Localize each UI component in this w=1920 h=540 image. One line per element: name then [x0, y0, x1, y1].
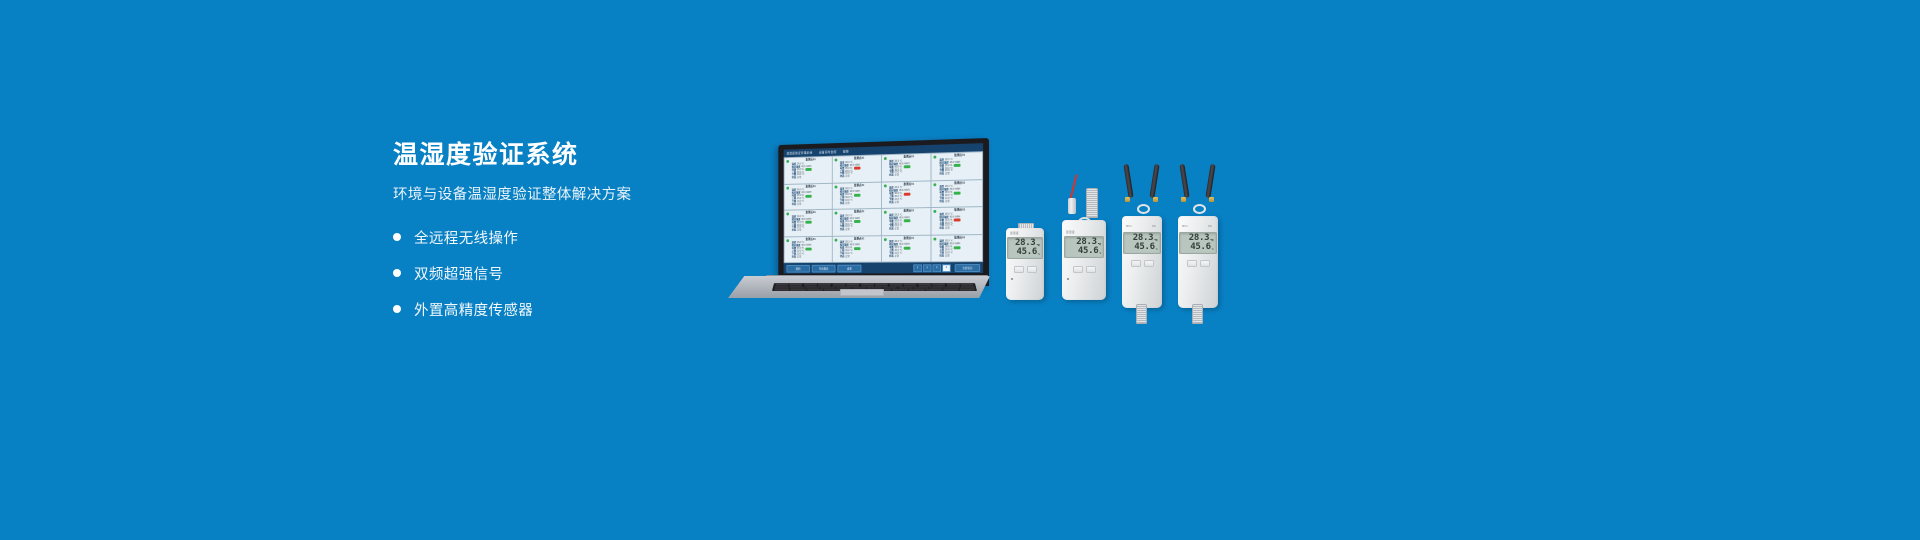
card-ok-badge: [854, 194, 861, 197]
lcd-humidity-unit: %: [1156, 248, 1158, 251]
monitoring-card[interactable]: 监测点01温度28.3 ℃相对湿度45.6 %RH电量95.0 %上限30.0 …: [882, 235, 931, 261]
monitoring-card[interactable]: 监测点01温度28.3 ℃相对湿度45.6 %RH电量95.0 %上限30.0 …: [833, 182, 881, 209]
device-button-left[interactable]: [1187, 260, 1197, 267]
lcd-humidity-value: 45.6: [1190, 243, 1210, 252]
card-row-value: 正常: [945, 228, 950, 230]
device-body: 温湿度 28.3 ℃ 45.6 %: [1062, 220, 1106, 300]
card-row-value: 正常: [797, 230, 801, 232]
hanging-hole: [1193, 204, 1206, 214]
card-row-key: 状态: [889, 202, 894, 204]
card-row-value: 正常: [895, 175, 900, 177]
device-brand-label: 温湿度: [1066, 230, 1075, 234]
card-row-value: 正常: [945, 173, 950, 176]
device-keypad[interactable]: [1014, 266, 1037, 273]
card-row-value: 正常: [895, 255, 900, 257]
antenna-label-nb: NB: [1208, 225, 1212, 228]
card-data-row: 状态正常: [792, 176, 830, 179]
card-row-key: 状态: [840, 229, 844, 231]
lcd-temperature-unit: ℃: [1098, 243, 1101, 246]
lcd-humidity-line: 45.6 %: [1134, 243, 1157, 252]
page-button-4[interactable]: 4: [942, 264, 951, 272]
card-ok-badge: [854, 220, 861, 223]
card-data-row: 状态正常: [792, 203, 830, 206]
monitoring-card[interactable]: 监测点01温度28.3 ℃相对湿度45.6 %RH电量95.0 %上限30.0 …: [882, 181, 931, 208]
card-status-dot-icon: [883, 238, 886, 241]
card-status-dot-icon: [934, 210, 937, 213]
laptop-lid: 温湿度验证管理系统 设备实时监控 报警 监测点01温度28.3 ℃相对湿度45.…: [778, 138, 989, 286]
card-status-dot-icon: [834, 185, 837, 188]
device-button-left[interactable]: [1073, 266, 1083, 273]
feature-item-1: 全远程无线操作: [393, 227, 723, 248]
card-ok-badge: [954, 246, 961, 249]
monitoring-card[interactable]: 监测点01温度28.3 ℃相对湿度45.6 %RH电量95.0 %上限30.0 …: [882, 208, 931, 235]
antenna-right-icon: [1205, 164, 1215, 198]
monitoring-card[interactable]: 监测点01温度28.3 ℃相对湿度45.6 %RH电量95.0 %上限30.0 …: [833, 155, 881, 182]
page-button-3[interactable]: 3: [932, 264, 941, 272]
card-row-value: 正常: [845, 176, 849, 178]
antenna-left-icon: [1179, 164, 1189, 198]
antenna-label-nb: NB: [1152, 225, 1156, 228]
antenna-right-connector: [1209, 197, 1214, 202]
card-status-dot-icon: [834, 238, 837, 241]
device-body: WiFi NB 28.3 ℃ 45.6 %: [1178, 216, 1218, 308]
status-led-icon: [1011, 278, 1013, 280]
card-row-key: 状态: [939, 173, 944, 175]
feature-label: 双频超强信号: [414, 263, 503, 284]
card-row-value: 正常: [945, 255, 950, 257]
device-wireless-sensor-2: WiFi NB 28.3 ℃ 45.6 %: [1178, 216, 1218, 308]
card-row-value: 正常: [797, 177, 801, 179]
device-brand-label: 温湿度: [1010, 231, 1019, 235]
card-ok-badge: [854, 247, 861, 250]
page-subtitle: 环境与设备温湿度验证整体解决方案: [393, 186, 723, 205]
app-titlebar-item-1: 设备实时监控: [819, 150, 837, 154]
device-button-left[interactable]: [1014, 266, 1024, 273]
hanging-hole: [1137, 204, 1150, 214]
probe-sensor-head: [1136, 304, 1147, 324]
card-row-key: 状态: [792, 204, 796, 206]
probe-sensor-head: [1086, 188, 1098, 218]
card-row-value: 正常: [797, 203, 801, 205]
card-row-key: 状态: [792, 230, 796, 232]
antenna-label-wifi: WiFi: [1126, 225, 1132, 228]
card-row-value: 正常: [845, 256, 849, 258]
device-button-right[interactable]: [1027, 266, 1037, 273]
feature-item-2: 双频超强信号: [393, 263, 723, 284]
device-keypad[interactable]: [1073, 266, 1096, 273]
antenna-label-wifi: WiFi: [1182, 225, 1188, 228]
card-ok-badge: [904, 166, 911, 169]
card-ok-badge: [904, 247, 911, 250]
card-status-dot-icon: [786, 186, 789, 189]
device-button-right[interactable]: [1200, 260, 1210, 267]
card-status-dot-icon: [834, 212, 837, 215]
monitoring-card[interactable]: 监测点01温度28.3 ℃相对湿度45.6 %RH电量95.0 %上限30.0 …: [833, 236, 881, 262]
card-row-value: 正常: [797, 256, 801, 258]
bullet-dot-icon: [393, 233, 401, 241]
lcd-display: 28.3 ℃ 45.6 %: [1123, 232, 1160, 254]
card-alarm-badge: [854, 167, 861, 170]
antenna-right-icon: [1149, 164, 1159, 198]
probe-connector: [1068, 198, 1076, 214]
app-titlebar-item-2: 报警: [843, 149, 849, 153]
card-status-dot-icon: [883, 211, 886, 214]
card-row-value: 正常: [895, 202, 900, 204]
lcd-humidity-line: 45.6 %: [1190, 243, 1213, 252]
lcd-display: 28.3 ℃ 45.6 %: [1064, 236, 1104, 258]
card-ok-badge: [806, 248, 812, 251]
laptop-screen: 温湿度验证管理系统 设备实时监控 报警 监测点01温度28.3 ℃相对湿度45.…: [784, 143, 983, 273]
device-body: 温湿度 28.3 ℃ 45.6 %: [1006, 228, 1044, 300]
feature-item-3: 外置高精度传感器: [393, 299, 723, 320]
toolbar-button-refresh[interactable]: 刷新: [786, 264, 810, 272]
device-body: WiFi NB 28.3 ℃ 45.6 %: [1122, 216, 1162, 308]
toolbar-button-fullscreen[interactable]: 全屏显示: [955, 264, 980, 272]
hero-copy-block: 温湿度验证系统 环境与设备温湿度验证整体解决方案 全远程无线操作 双频超强信号 …: [393, 140, 723, 335]
card-row-key: 状态: [840, 176, 844, 178]
app-titlebar-item-0: 温湿度验证管理系统: [786, 151, 812, 156]
toolbar-button-export[interactable]: 导出报表: [812, 264, 836, 272]
lcd-humidity-value: 45.6: [1078, 247, 1098, 256]
lcd-display: 28.3 ℃ 45.6 %: [1179, 232, 1216, 254]
probe-sensor-head: [1192, 304, 1203, 324]
card-data-row: 状态正常: [840, 229, 879, 232]
monitoring-card[interactable]: 监测点01温度28.3 ℃相对湿度45.6 %RH电量95.0 %上限30.0 …: [932, 207, 982, 234]
card-row-key: 状态: [792, 256, 796, 258]
device-data-logger-small: 温湿度 28.3 ℃ 45.6 %: [1006, 228, 1044, 300]
antenna-left-icon: [1123, 164, 1133, 198]
card-row-value: 正常: [845, 203, 849, 205]
card-status-dot-icon: [834, 159, 837, 162]
card-data-row: 状态正常: [939, 200, 980, 203]
hero-banner: 温湿度验证系统 环境与设备温湿度验证整体解决方案 全远程无线操作 双频超强信号 …: [0, 0, 1920, 540]
laptop-trackpad[interactable]: [840, 289, 884, 296]
card-row-key: 状态: [889, 255, 894, 257]
monitoring-card-grid: 监测点01温度28.3 ℃相对湿度45.6 %RH电量95.0 %上限30.0 …: [784, 151, 983, 263]
card-row-value: 正常: [895, 229, 900, 231]
device-data-logger-probe: 温湿度 28.3 ℃ 45.6 %: [1062, 220, 1106, 300]
lcd-humidity-value: 45.6: [1017, 248, 1037, 257]
card-row-key: 状态: [889, 175, 894, 177]
card-row-value: 正常: [845, 229, 849, 231]
card-ok-badge: [806, 221, 812, 224]
page-button-2[interactable]: 2: [923, 264, 932, 272]
card-row-key: 状态: [939, 255, 944, 257]
device-keypad[interactable]: [1187, 260, 1210, 267]
card-ok-badge: [806, 195, 812, 198]
card-status-dot-icon: [786, 212, 789, 215]
card-ok-badge: [954, 192, 961, 195]
card-data-row: 状态正常: [939, 173, 980, 176]
card-ok-badge: [806, 168, 812, 171]
feature-list: 全远程无线操作 双频超强信号 外置高精度传感器: [393, 227, 723, 320]
monitoring-card[interactable]: 监测点01温度28.3 ℃相对湿度45.6 %RH电量95.0 %上限30.0 …: [785, 236, 832, 262]
card-status-dot-icon: [934, 237, 937, 240]
monitoring-card[interactable]: 监测点01温度28.3 ℃相对湿度45.6 %RH电量95.0 %上限30.0 …: [932, 180, 982, 207]
monitoring-card[interactable]: 监测点01温度28.3 ℃相对湿度45.6 %RH电量95.0 %上限30.0 …: [882, 154, 931, 181]
bullet-dot-icon: [393, 305, 401, 313]
card-status-dot-icon: [786, 160, 789, 163]
card-row-key: 状态: [792, 177, 796, 179]
lcd-humidity-line: 45.6 %: [1078, 247, 1101, 256]
antenna-left-connector: [1181, 197, 1186, 202]
card-data-row: 状态正常: [840, 175, 879, 178]
card-data-row: 状态正常: [792, 256, 830, 259]
card-data-row: 状态正常: [889, 174, 929, 177]
card-data-row: 状态正常: [840, 202, 879, 205]
card-data-row: 状态正常: [889, 255, 929, 258]
status-led-icon: [1067, 278, 1069, 280]
app-toolbar: 刷新 导出报表 设置 1 2 3 4 全屏显示: [784, 262, 983, 274]
card-row-key: 状态: [939, 201, 944, 203]
card-alarm-badge: [904, 193, 911, 196]
antenna-left-connector: [1125, 197, 1130, 202]
device-keypad[interactable]: [1131, 260, 1154, 267]
device-button-left[interactable]: [1131, 260, 1141, 267]
device-button-right[interactable]: [1086, 266, 1096, 273]
monitoring-card[interactable]: 监测点01温度28.3 ℃相对湿度45.6 %RH电量95.0 %上限30.0 …: [932, 235, 982, 262]
card-row-key: 状态: [939, 228, 944, 230]
card-data-row: 状态正常: [939, 227, 980, 230]
feature-label: 外置高精度传感器: [414, 299, 533, 320]
feature-label: 全远程无线操作: [414, 227, 518, 248]
card-status-dot-icon: [786, 239, 789, 242]
card-status-dot-icon: [934, 183, 937, 186]
lcd-humidity-line: 45.6 %: [1017, 248, 1040, 257]
card-data-row: 状态正常: [889, 228, 929, 231]
card-ok-badge: [954, 164, 961, 167]
page-button-1[interactable]: 1: [913, 264, 922, 272]
laptop-product-image: 温湿度验证管理系统 设备实时监控 报警 监测点01温度28.3 ℃相对湿度45.…: [720, 138, 990, 298]
card-status-dot-icon: [934, 156, 937, 159]
bullet-dot-icon: [393, 269, 401, 277]
card-data-row: 状态正常: [939, 255, 980, 258]
device-wireless-sensor-1: WiFi NB 28.3 ℃ 45.6 %: [1122, 216, 1162, 308]
card-row-key: 状态: [840, 256, 844, 258]
card-row-value: 正常: [945, 201, 950, 203]
device-button-right[interactable]: [1144, 260, 1154, 267]
lcd-humidity-value: 45.6: [1134, 243, 1154, 252]
antenna-right-connector: [1153, 197, 1158, 202]
monitoring-card[interactable]: 监测点01温度28.3 ℃相对湿度45.6 %RH电量95.0 %上限30.0 …: [932, 152, 982, 180]
monitoring-card[interactable]: 监测点01温度28.3 ℃相对湿度45.6 %RH电量95.0 %上限30.0 …: [785, 183, 832, 209]
card-ok-badge: [904, 220, 911, 223]
card-data-row: 状态正常: [889, 201, 929, 204]
card-data-row: 状态正常: [792, 229, 830, 232]
page-title: 温湿度验证系统: [393, 140, 723, 170]
monitoring-card[interactable]: 监测点01温度28.3 ℃相对湿度45.6 %RH电量95.0 %上限30.0 …: [785, 157, 832, 184]
card-status-dot-icon: [883, 184, 886, 187]
card-data-row: 状态正常: [840, 256, 879, 259]
lcd-humidity-unit: %: [1212, 248, 1214, 251]
lcd-humidity-unit: %: [1099, 252, 1101, 255]
toolbar-button-settings[interactable]: 设置: [837, 264, 861, 272]
pagination[interactable]: 1 2 3 4: [913, 264, 951, 272]
card-row-key: 状态: [840, 203, 844, 205]
card-alarm-badge: [954, 219, 961, 222]
monitoring-card[interactable]: 监测点01温度28.3 ℃相对湿度45.6 %RH电量95.0 %上限30.0 …: [785, 210, 832, 236]
card-row-key: 状态: [889, 229, 894, 231]
lcd-display: 28.3 ℃ 45.6 %: [1007, 237, 1043, 259]
card-status-dot-icon: [883, 157, 886, 160]
sensor-device-group: 温湿度 28.3 ℃ 45.6 %: [1000, 178, 1220, 308]
monitoring-card[interactable]: 监测点01温度28.3 ℃相对湿度45.6 %RH电量95.0 %上限30.0 …: [833, 209, 881, 235]
lcd-humidity-unit: %: [1038, 253, 1040, 256]
